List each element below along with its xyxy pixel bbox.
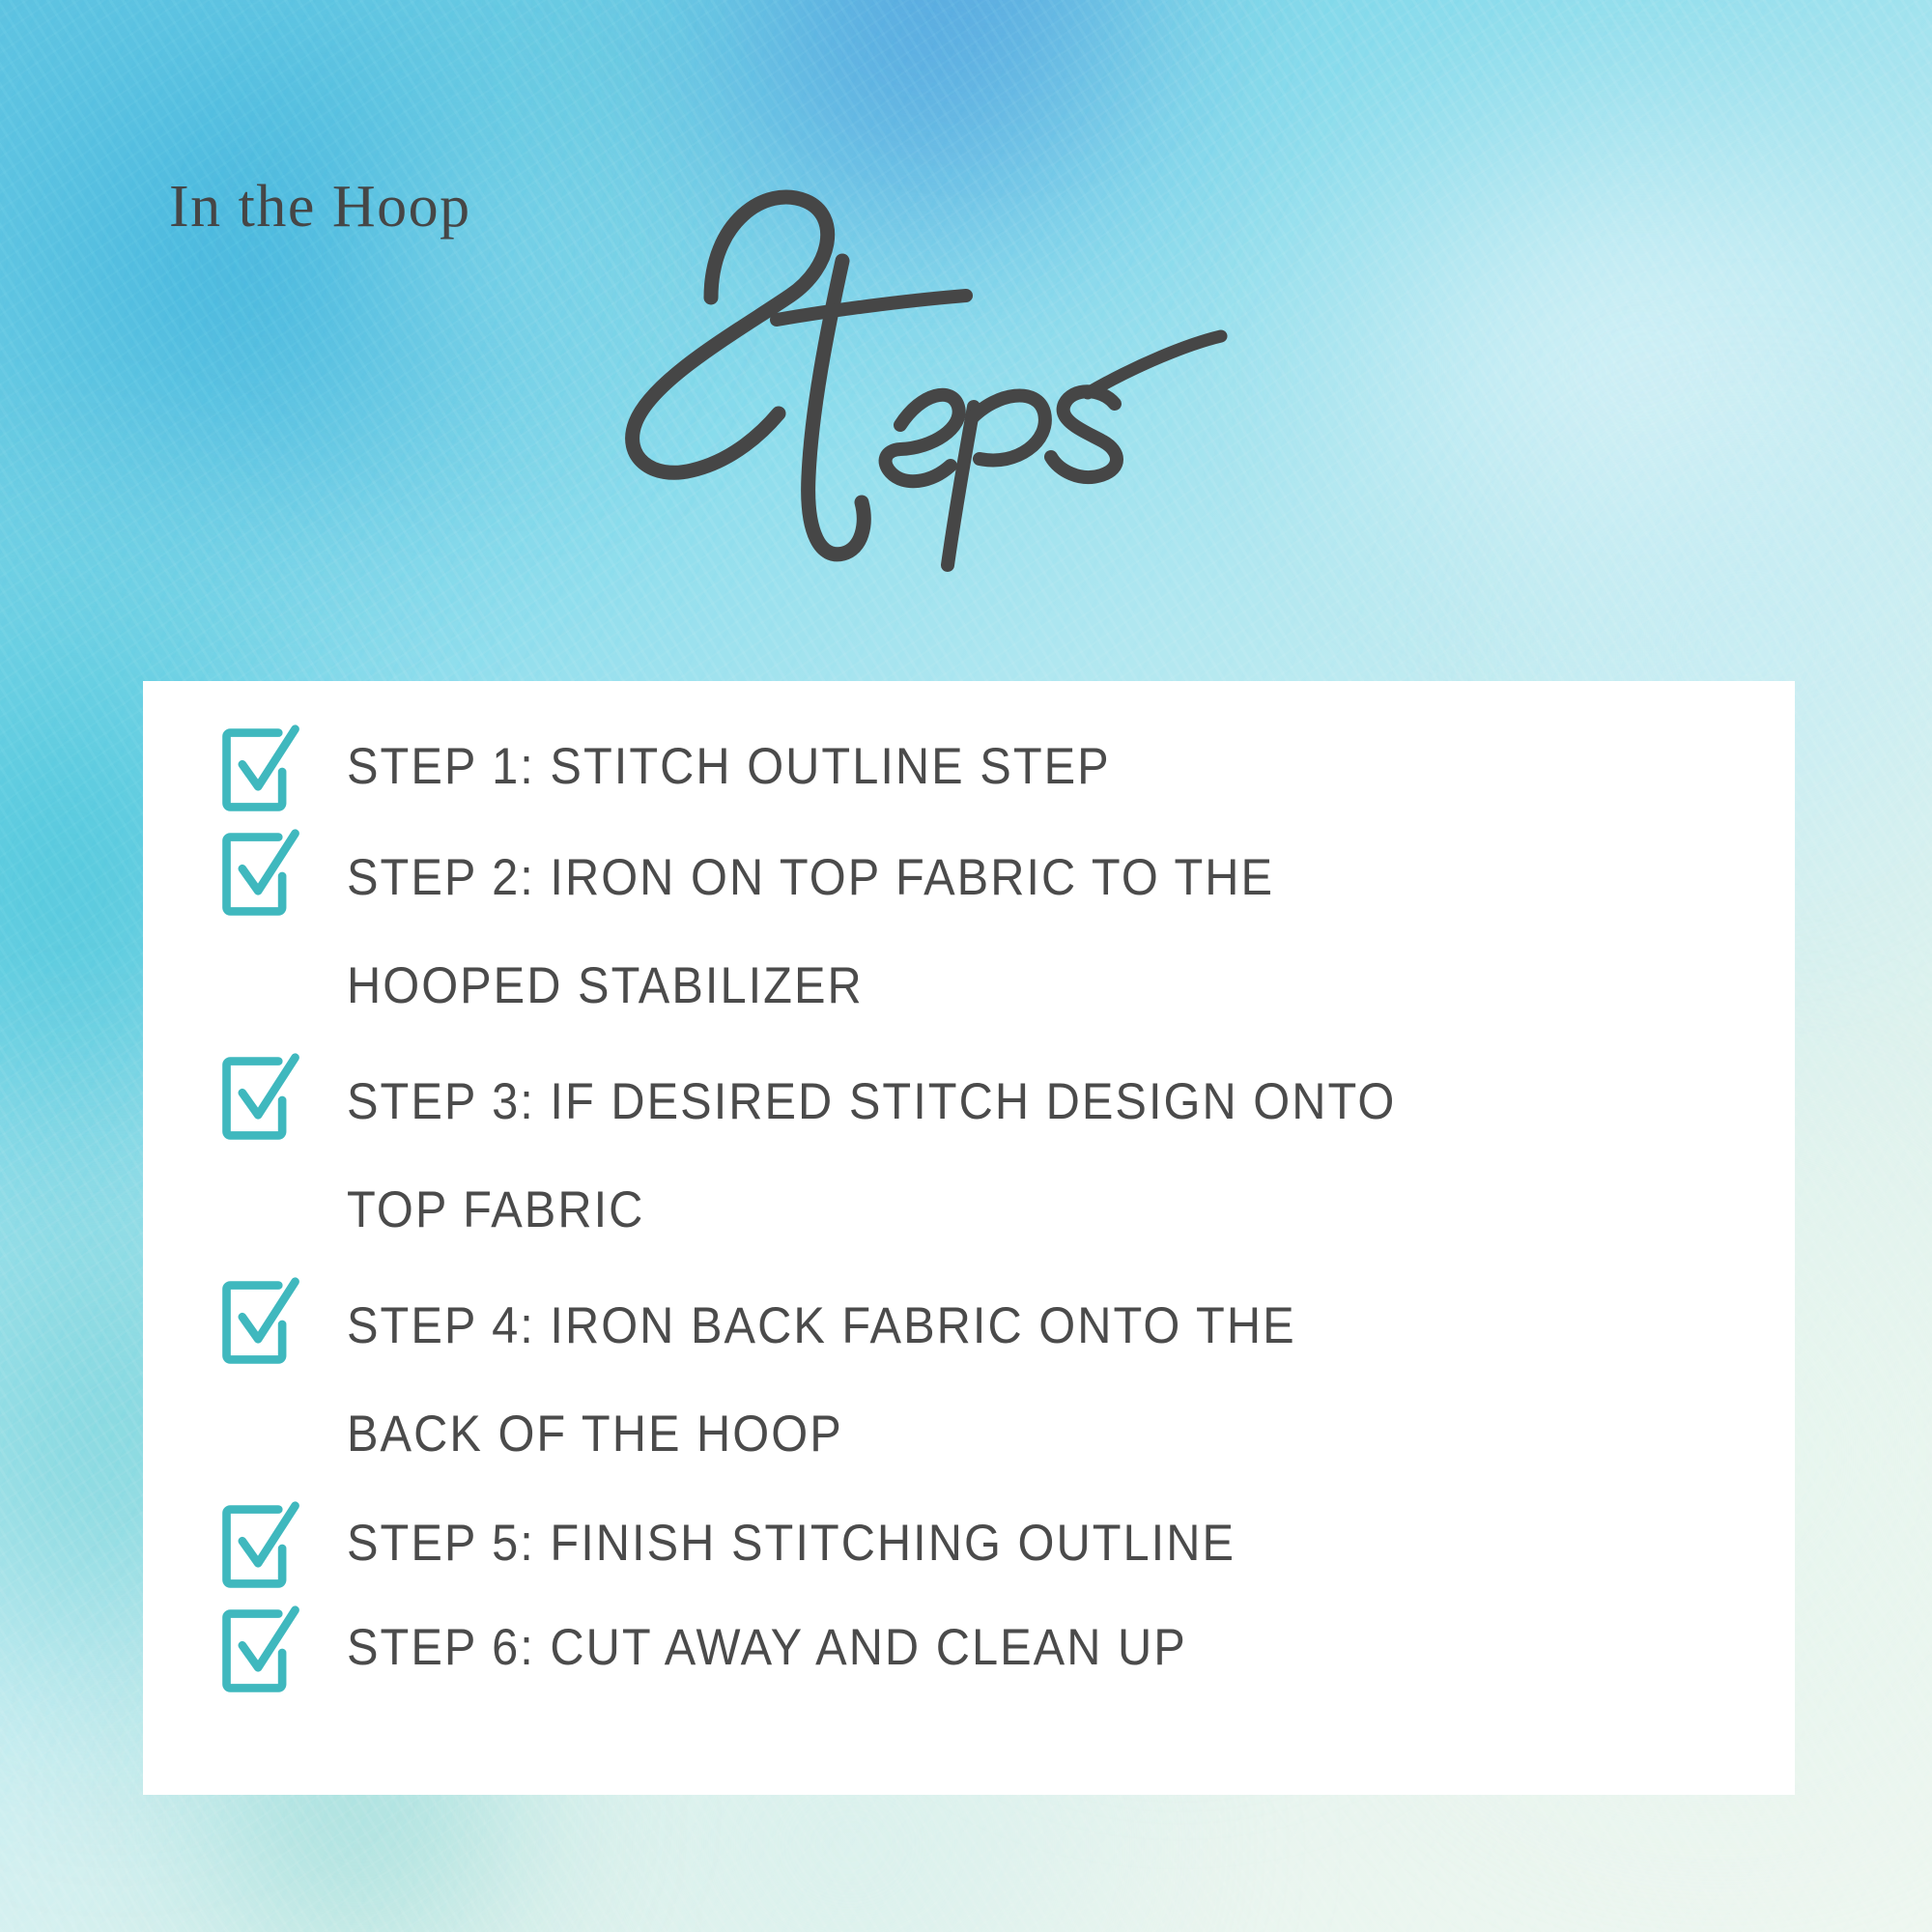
checklist-item-6[interactable]: STEP 6: CUT AWAY AND CLEAN UP [215, 1599, 1766, 1697]
checkbox-checked-icon[interactable] [215, 1500, 308, 1593]
checklist-item-label: STEP 5: FINISH STITCHING OUTLINE [347, 1494, 1236, 1591]
checklist-item-4[interactable]: STEP 4: IRON BACK FABRIC ONTO THE BACK O… [215, 1270, 1766, 1489]
checkbox-checked-icon[interactable] [215, 1605, 308, 1697]
checkbox-checked-icon[interactable] [215, 724, 308, 816]
checklist-item-1[interactable]: STEP 1: STITCH OUTLINE STEP [215, 718, 1766, 816]
script-title-steps [522, 169, 1256, 584]
checklist-item-3[interactable]: STEP 3: IF DESIRED STITCH DESIGN ONTO TO… [215, 1046, 1766, 1264]
poster-canvas: In the Hoop [0, 0, 1932, 1932]
checklist-item-label: STEP 1: STITCH OUTLINE STEP [347, 718, 1111, 814]
checklist-panel: STEP 1: STITCH OUTLINE STEP STEP 2: IRON… [143, 681, 1795, 1795]
checklist-item-label: STEP 4: IRON BACK FABRIC ONTO THE BACK O… [347, 1270, 1296, 1489]
checklist-item-label: STEP 3: IF DESIRED STITCH DESIGN ONTO TO… [347, 1046, 1396, 1264]
checklist-rows: STEP 1: STITCH OUTLINE STEP STEP 2: IRON… [215, 718, 1766, 1703]
eyebrow-heading: In the Hoop [169, 177, 471, 237]
checkbox-checked-icon[interactable] [215, 828, 308, 921]
checklist-item-label: STEP 2: IRON ON TOP FABRIC TO THE HOOPED… [347, 822, 1274, 1040]
checkbox-checked-icon[interactable] [215, 1052, 308, 1145]
checkbox-checked-icon[interactable] [215, 1276, 308, 1369]
checklist-item-5[interactable]: STEP 5: FINISH STITCHING OUTLINE [215, 1494, 1766, 1593]
checklist-item-label: STEP 6: CUT AWAY AND CLEAN UP [347, 1599, 1187, 1695]
checklist-item-2[interactable]: STEP 2: IRON ON TOP FABRIC TO THE HOOPED… [215, 822, 1766, 1040]
